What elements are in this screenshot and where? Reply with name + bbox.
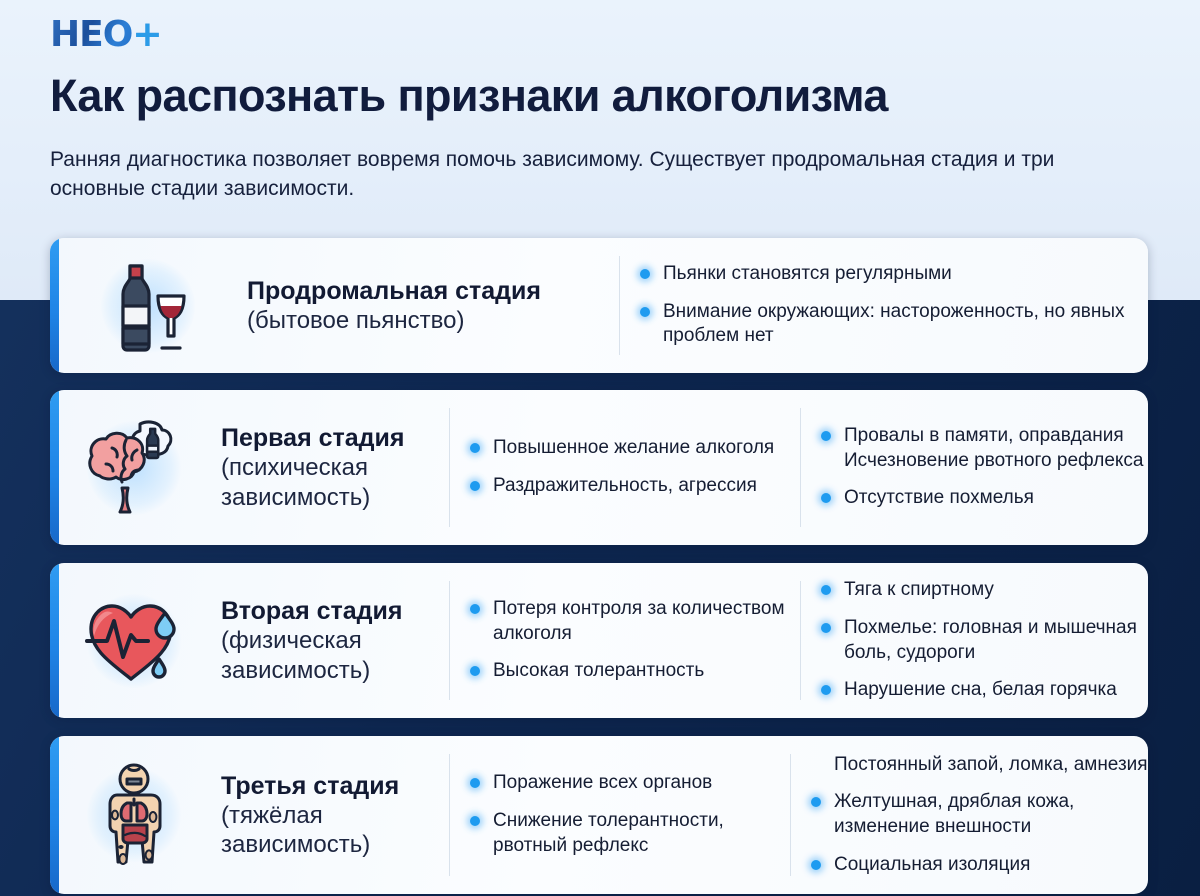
stage-title: Продромальная стадия(бытовое пьянство) (247, 276, 541, 335)
stage-title-strong: Продромальная стадия (247, 276, 541, 306)
bullet-dot-icon (470, 816, 480, 826)
symptom-item: Высокая толерантность (470, 659, 800, 684)
symptom-text: Нарушение сна, белая горячка (844, 679, 1117, 700)
symptom-item: Тяга к спиртному (821, 578, 1148, 603)
stage-title-sub: (тяжёлая зависимость) (221, 801, 449, 860)
stage-title-sub: (психическая зависимость) (221, 453, 449, 512)
stage-title-strong: Вторая стадия (221, 596, 449, 626)
symptom-item: Похмелье: головная и мышечная боль, судо… (821, 616, 1148, 665)
bullet-dot-icon (470, 481, 480, 491)
bullet-dot-icon (821, 493, 831, 503)
symptom-text: Повышенное желание алкоголя (493, 437, 774, 458)
symptom-item: Нарушение сна, белая горячка (821, 678, 1148, 703)
bullet-dot-icon (470, 778, 480, 788)
symptom-text: Провалы в памяти, оправдания Исчезновени… (844, 425, 1143, 471)
symptom-item: Повышенное желание алкоголя (470, 436, 800, 461)
symptom-text: Пьянки становятся регулярными (663, 263, 952, 284)
bullet-dot-icon (640, 269, 650, 279)
symptom-list: Потеря контроля за количеством алкоголяВ… (450, 597, 800, 684)
stage-heading-block: Первая стадия(психическая зависимость) (59, 409, 449, 527)
symptom-list: Тяга к спиртномуПохмелье: головная и мыш… (801, 578, 1148, 703)
wine-bottle-and-glass-icon (89, 247, 207, 365)
stage-card: Вторая стадия(физическая зависимость)Пот… (50, 563, 1148, 718)
bullet-dot-icon (470, 443, 480, 453)
brain-with-thought-bubble-icon (75, 409, 193, 527)
symptom-list: Поражение всех органовСнижение толерантн… (450, 771, 790, 858)
bullet-dot-icon (821, 623, 831, 633)
bullet-dot-icon (811, 797, 821, 807)
stage-card: Третья стадия(тяжёлая зависимость)Пораже… (50, 736, 1148, 894)
symptom-item: Внимание окружающих: настороженность, но… (640, 300, 1148, 349)
symptom-text: Постоянный запой, ломка, амнезия (834, 754, 1148, 775)
bullet-dot-icon (470, 666, 480, 676)
stage-title-sub: (физическая зависимость) (221, 626, 449, 685)
stage-title: Третья стадия(тяжёлая зависимость) (221, 771, 449, 860)
symptom-text: Похмелье: головная и мышечная боль, судо… (844, 617, 1137, 663)
symptom-text: Желтушная, дряблая кожа, изменение внешн… (834, 791, 1074, 837)
bullet-dot-icon (821, 685, 831, 695)
stage-title: Вторая стадия(физическая зависимость) (221, 596, 449, 685)
stage-title: Первая стадия(психическая зависимость) (221, 423, 449, 512)
symptom-text: Снижение толерантности, рвотный рефлекс (493, 810, 724, 856)
bullet-dot-icon (640, 307, 650, 317)
bullet-dot-icon (811, 860, 821, 870)
stage-heading-block: Третья стадия(тяжёлая зависимость) (59, 756, 449, 874)
card-accent-bar (50, 736, 59, 894)
symptom-text: Социальная изоляция (834, 854, 1030, 875)
symptom-item: Поражение всех органов (470, 771, 790, 796)
symptom-item: Постоянный запой, ломка, амнезия (811, 753, 1148, 778)
brand-name: HEO (50, 14, 132, 55)
symptom-text: Высокая толерантность (493, 660, 704, 681)
stage-title-strong: Третья стадия (221, 771, 449, 801)
symptom-item: Желтушная, дряблая кожа, изменение внешн… (811, 790, 1148, 839)
stage-heading-block: Вторая стадия(физическая зависимость) (59, 582, 449, 700)
symptom-item: Пьянки становятся регулярными (640, 262, 1148, 287)
stage-heading-block: Продромальная стадия(бытовое пьянство) (59, 247, 619, 365)
symptom-list: Постоянный запой, ломка, амнезияЖелтушна… (791, 753, 1148, 878)
page-subtitle: Ранняя диагностика позволяет вовремя пом… (50, 146, 1090, 204)
infographic-page: HEO+ Как распознать признаки алкоголизма… (0, 0, 1200, 896)
stage-card: Первая стадия(психическая зависимость)По… (50, 390, 1148, 545)
page-title: Как распознать признаки алкоголизма (50, 72, 1170, 121)
symptom-item: Отсутствие похмелья (821, 486, 1148, 511)
symptom-text: Раздражительность, агрессия (493, 475, 757, 496)
symptom-item: Раздражительность, агрессия (470, 474, 800, 499)
symptom-item: Социальная изоляция (811, 853, 1148, 878)
symptom-list: Повышенное желание алкоголяРаздражительн… (450, 436, 800, 498)
symptom-item: Снижение толерантности, рвотный рефлекс (470, 809, 790, 858)
symptom-list: Провалы в памяти, оправдания Исчезновени… (801, 424, 1148, 511)
heart-with-pulse-icon (75, 582, 193, 700)
symptom-text: Отсутствие похмелья (844, 487, 1034, 508)
symptom-text: Внимание окружающих: настороженность, но… (663, 301, 1125, 347)
card-accent-bar (50, 238, 59, 373)
bullet-dot-icon (470, 604, 480, 614)
brand-logo: HEO+ (50, 14, 162, 55)
symptom-text: Поражение всех органов (493, 772, 712, 793)
symptom-item: Провалы в памяти, оправдания Исчезновени… (821, 424, 1148, 473)
stage-title-strong: Первая стадия (221, 423, 449, 453)
human-body-organs-icon (75, 756, 193, 874)
stage-title-sub: (бытовое пьянство) (247, 306, 541, 335)
brand-plus-icon: + (132, 14, 161, 55)
symptom-text: Потеря контроля за количеством алкоголя (493, 598, 785, 644)
bullet-dot-icon (821, 431, 831, 441)
symptom-list: Пьянки становятся регулярнымиВнимание ок… (620, 262, 1148, 349)
symptom-item: Потеря контроля за количеством алкоголя (470, 597, 800, 646)
card-accent-bar (50, 390, 59, 545)
stage-card: Продромальная стадия(бытовое пьянство)Пь… (50, 238, 1148, 373)
bullet-dot-icon (821, 585, 831, 595)
card-accent-bar (50, 563, 59, 718)
symptom-text: Тяга к спиртному (844, 579, 994, 600)
